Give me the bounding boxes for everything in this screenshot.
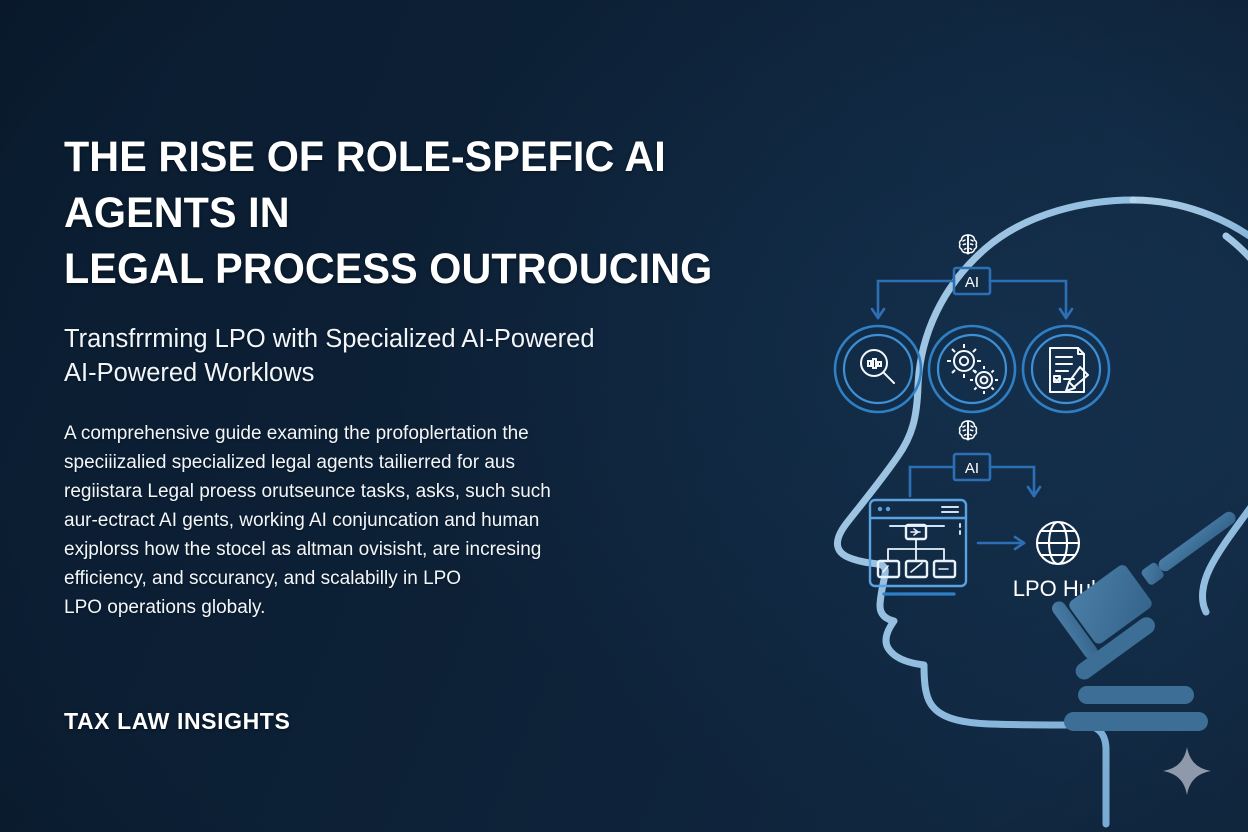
node-process-automation-agent bbox=[929, 326, 1015, 412]
brain-icon bbox=[960, 235, 977, 254]
magnifier-search-icon bbox=[861, 350, 894, 383]
brand-logo-text: TAX LAW INSIGHTS bbox=[64, 708, 290, 735]
node-research-agent bbox=[835, 326, 921, 412]
checklist-pen-icon bbox=[1050, 348, 1088, 392]
gavel-icon bbox=[1049, 487, 1248, 662]
svg-text:AI: AI bbox=[965, 460, 979, 477]
text-column: THE RISE OF ROLE-SPEFIC AI AGENTS IN LEG… bbox=[64, 130, 764, 622]
sparkle-icon bbox=[1161, 745, 1213, 797]
page-subtitle: Transfrrming LPO with Specialized AI-Pow… bbox=[64, 322, 764, 391]
gears-icon bbox=[947, 344, 998, 394]
node-review-drafting-agent bbox=[1023, 326, 1109, 412]
ai-badge-bottom: AI bbox=[954, 454, 990, 480]
globe-icon bbox=[1037, 522, 1079, 564]
brain-icon-bottom bbox=[960, 421, 977, 440]
gavel-base bbox=[1064, 686, 1208, 731]
page-title: THE RISE OF ROLE-SPEFIC AI AGENTS IN LEG… bbox=[64, 130, 736, 298]
flow-arrow bbox=[978, 537, 1024, 549]
banner-canvas: AI bbox=[0, 0, 1248, 832]
svg-text:AI: AI bbox=[965, 274, 979, 291]
description-paragraph: A comprehensive guide examing the profop… bbox=[64, 419, 709, 622]
hero-illustration: AI bbox=[728, 0, 1248, 832]
